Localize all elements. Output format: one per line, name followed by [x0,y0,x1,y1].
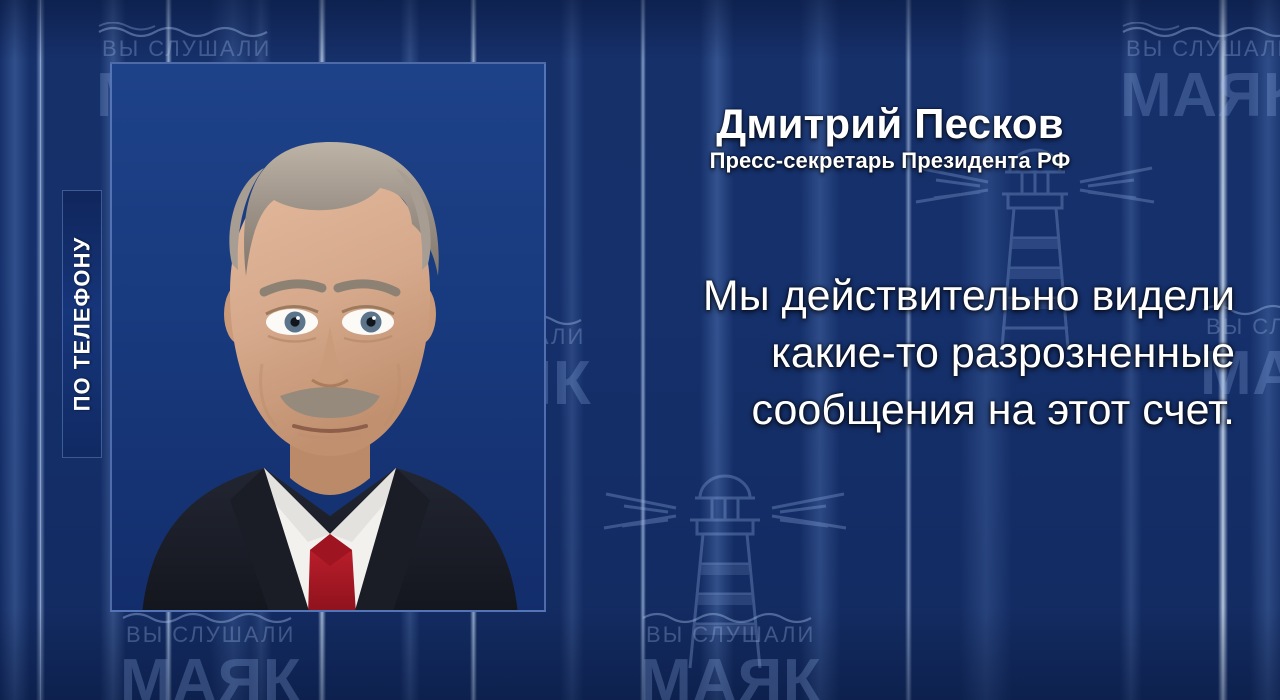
quote-text: Мы действительно видели какие-то разрозн… [580,268,1235,440]
watermark-subtitle: ВЫ СЛУШАЛИ [646,624,815,646]
watermark-subtitle: ВЫ СЛУШАЛИ [1126,38,1280,60]
speaker-portrait [110,62,546,612]
watermark-subtitle: ВЫ СЛУШАЛИ [126,624,295,646]
speaker-role: Пресс-секретарь Президента РФ [546,148,1234,174]
connection-mode-label: ПО ТЕЛЕФОНУ [69,237,95,412]
portrait-illustration [112,64,546,612]
speaker-name: Дмитрий Песков [546,100,1234,148]
lighthouse-icon [600,440,850,670]
station-watermark: ВЫ СЛУШАЛИ МАЯК [120,608,301,700]
waves-icon [641,608,821,624]
quote-line: сообщения на этот счет. [580,382,1235,439]
watermark-title: МАЯК [640,651,821,700]
quote-line: Мы действительно видели [580,268,1235,325]
bottom-vignette [0,608,1280,700]
watermark-subtitle: ВЫ СЛУШАЛИ [102,38,271,60]
waves-icon [1121,22,1280,38]
station-watermark: ВЫ СЛУШАЛИ МАЯК [640,608,821,700]
waves-icon [97,22,277,38]
watermark-title: МАЯК [120,651,301,700]
quote-line: какие-то разрозненные [580,325,1235,382]
connection-mode-badge: ПО ТЕЛЕФОНУ [62,190,102,458]
top-vignette [0,0,1280,60]
broadcast-lower-third: ВЫ СЛУШАЛИ МАЯК ВЫ СЛУШАЛИ МАЯК ВЫ СЛУША… [0,0,1280,700]
